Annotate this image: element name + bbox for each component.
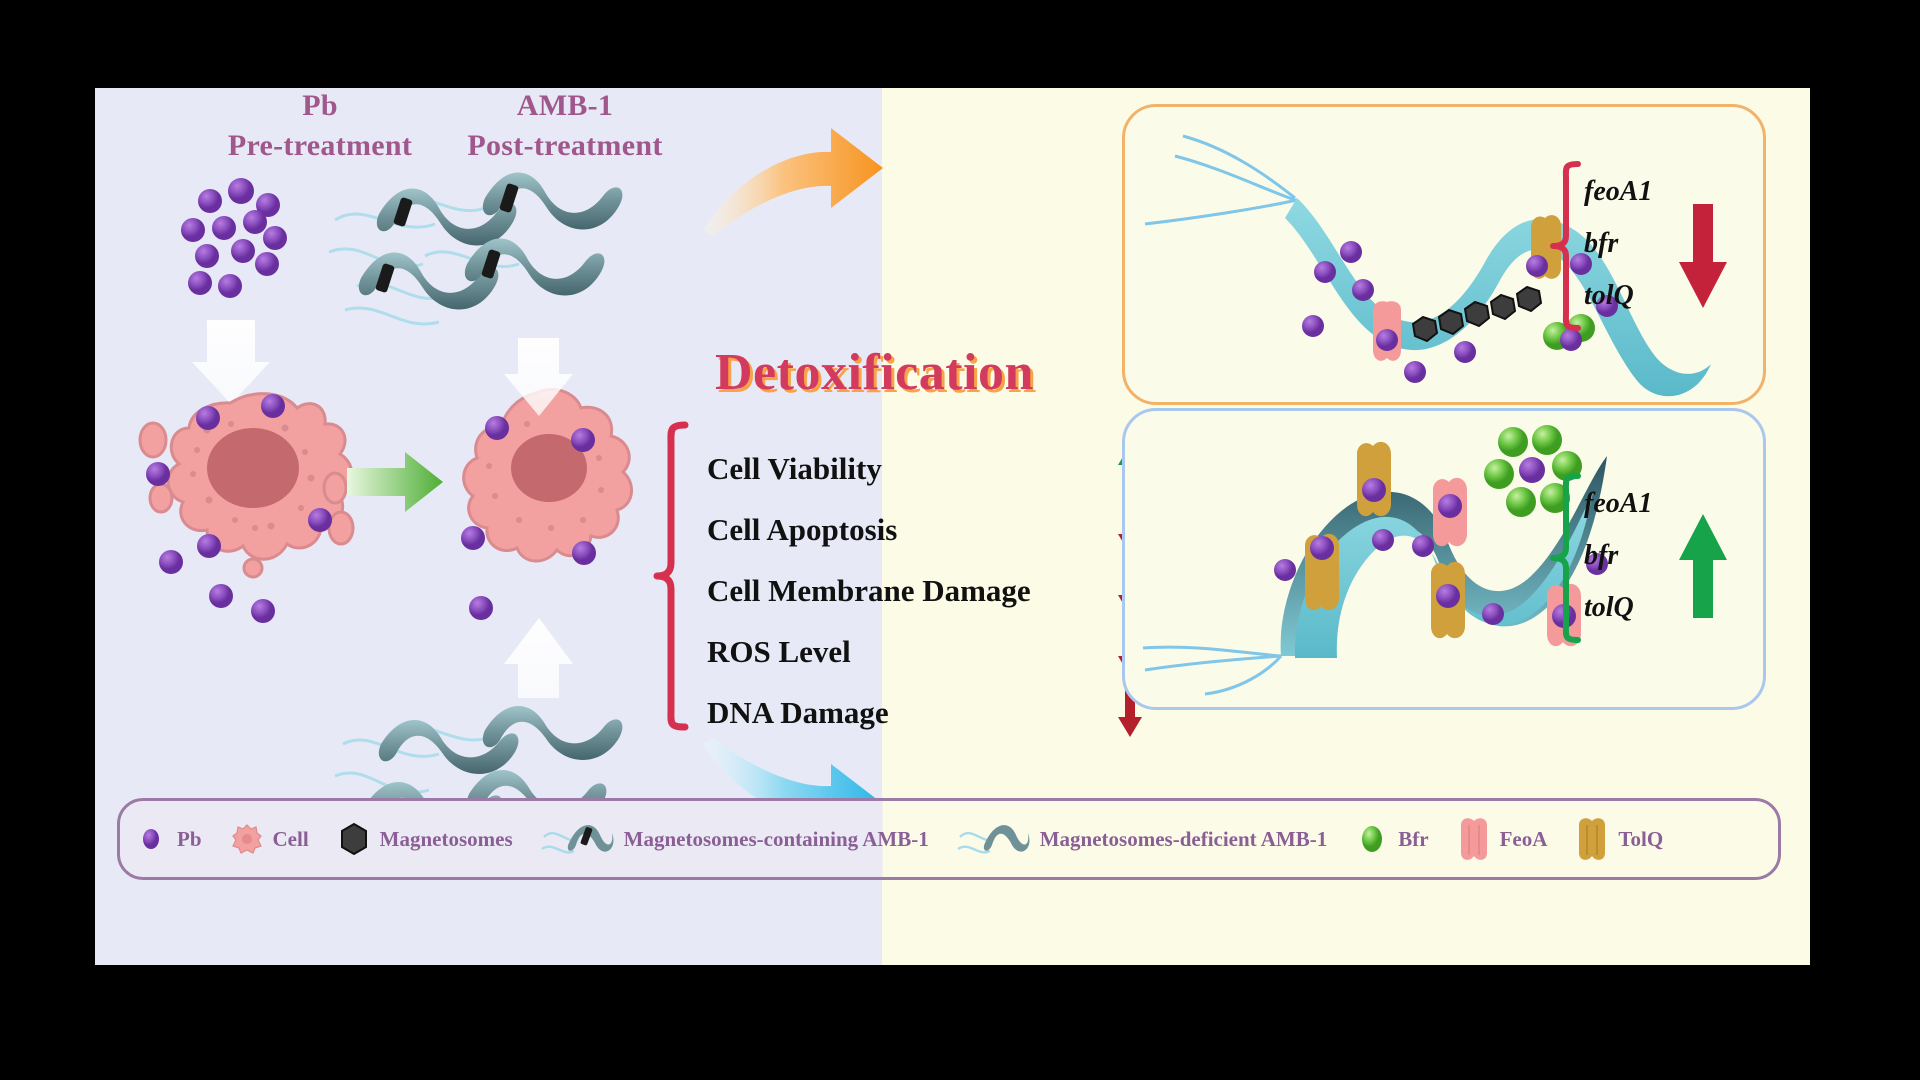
pb-dot-cluster-icon xyxy=(181,178,287,298)
legend-bar: Pb Cell Magnetosomes xyxy=(117,798,1781,880)
graphical-abstract: Pb Pre-treatment AMB-1 Post-treatment xyxy=(95,88,1810,965)
legend-label: Magnetosomes-deficient AMB-1 xyxy=(1040,827,1328,852)
magnetosome-containing-bacteria-cluster xyxy=(329,172,622,323)
green-transition-arrow xyxy=(347,452,443,512)
legend-item-tolq: TolQ xyxy=(1561,817,1677,861)
orange-curved-arrow xyxy=(695,108,895,248)
legend-item-pb: Pb xyxy=(120,817,216,861)
bacteria-with-magnetosomes-icon xyxy=(541,817,615,861)
white-arrow-down-left xyxy=(192,320,270,404)
effects-list: Cell Viability Cell Apoptosis Cell Membr… xyxy=(707,438,1037,743)
legend-label: Magnetosomes-containing AMB-1 xyxy=(624,827,929,852)
legend-label: Pb xyxy=(177,827,202,852)
legend-label: FeoA xyxy=(1500,827,1548,852)
effects-red-brace-icon xyxy=(655,421,689,731)
tolq-protein-icon xyxy=(1575,817,1609,861)
legend-item-cell: Cell xyxy=(216,817,323,861)
legend-label: TolQ xyxy=(1618,827,1663,852)
feoa-protein-icon xyxy=(1373,301,1401,361)
bacteria-without-magnetosomes-icon xyxy=(957,817,1031,861)
damaged-cell-icon xyxy=(140,394,353,577)
bfr-protein-icon xyxy=(1355,817,1389,861)
effect-row: ROS Level xyxy=(707,621,1037,682)
feoa-protein-icon xyxy=(1457,817,1491,861)
recovered-cell-icon xyxy=(464,390,632,561)
detoxification-title: Detoxification xyxy=(715,343,1034,402)
legend-item-magnetosome-containing-amb1: Magnetosomes-containing AMB-1 xyxy=(527,817,943,861)
pb-dot-icon xyxy=(134,817,168,861)
bottom-genes-up-arrow-icon xyxy=(1677,512,1729,622)
effect-row: Cell Membrane Damage xyxy=(707,560,1037,621)
effect-row: DNA Damage xyxy=(707,682,1037,743)
legend-item-feoa: FeoA xyxy=(1443,817,1562,861)
effect-label: Cell Apoptosis xyxy=(707,512,897,548)
legend-label: Cell xyxy=(273,827,309,852)
effect-label: Cell Viability xyxy=(707,451,882,487)
legend-item-magnetosomes: Magnetosomes xyxy=(323,817,527,861)
white-arrow-up-right xyxy=(504,618,573,698)
effect-row: Cell Viability xyxy=(707,438,1037,499)
effect-row: Cell Apoptosis xyxy=(707,499,1037,560)
effect-label: ROS Level xyxy=(707,634,851,670)
legend-label: Magnetosomes xyxy=(380,827,513,852)
top-genes-down-arrow-icon xyxy=(1677,200,1729,310)
cell-icon xyxy=(230,817,264,861)
magnetosome-hexagon-icon xyxy=(337,817,371,861)
legend-item-magnetosome-deficient-amb1: Magnetosomes-deficient AMB-1 xyxy=(943,817,1342,861)
figure-canvas: Pb Pre-treatment AMB-1 Post-treatment xyxy=(0,0,1920,1080)
effect-label: DNA Damage xyxy=(707,695,889,731)
effect-label: Cell Membrane Damage xyxy=(707,573,1031,609)
legend-label: Bfr xyxy=(1398,827,1428,852)
legend-item-bfr: Bfr xyxy=(1341,817,1442,861)
